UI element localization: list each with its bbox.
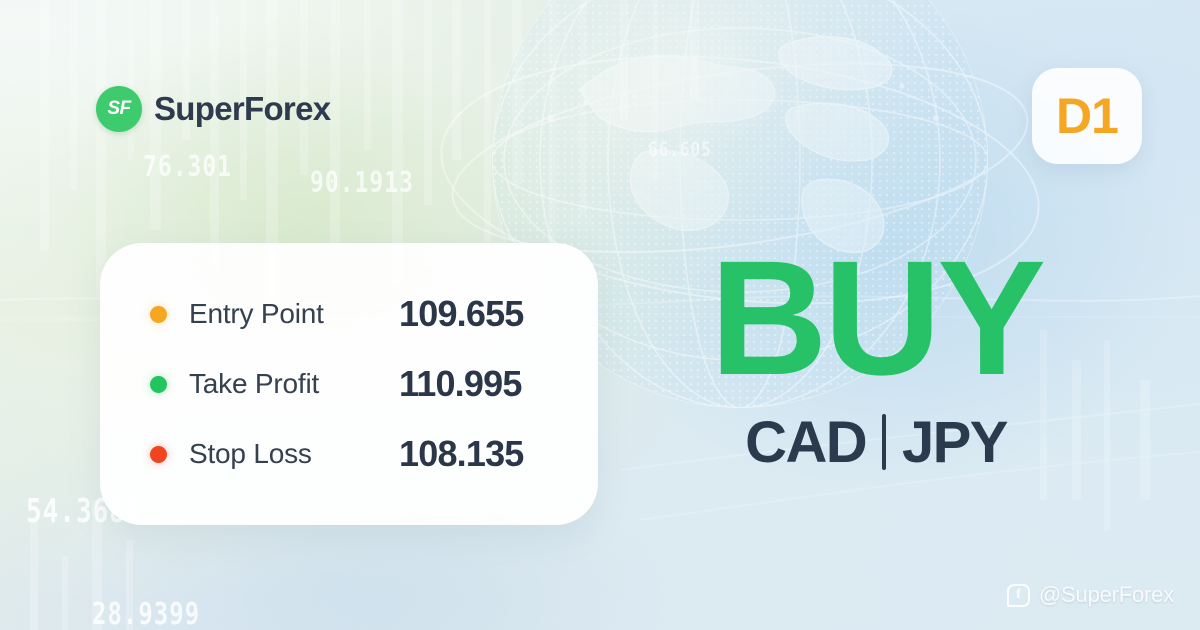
entry-point-dot-icon [150,306,167,323]
trade-levels-card: Entry Point 109.655 Take Profit 110.995 … [100,243,598,525]
base-currency: CAD [745,409,866,476]
signal-block: BUY CAD JPY [676,250,1076,476]
brand-name: SuperForex [154,90,330,128]
background-price-label: 90.1913 [310,167,414,200]
signal-action: BUY [676,250,1076,387]
facebook-icon: f [1007,584,1030,607]
signal-banner: 76.301 90.1913 66.605 54.3686 28.9399 SF… [0,0,1200,630]
take-profit-dot-icon [150,376,167,393]
background-price-label: 66.605 [648,138,712,161]
social-handle: @SuperForex [1039,582,1174,608]
timeframe-badge: D1 [1032,68,1142,164]
background-price-label: 76.301 [143,151,232,184]
logo-mark-text: SF [107,98,130,120]
brand-logo[interactable]: SF SuperForex [96,86,330,132]
take-profit-row: Take Profit 110.995 [100,349,598,419]
stop-loss-value: 108.135 [399,433,524,475]
quote-currency: JPY [902,409,1007,476]
stop-loss-row: Stop Loss 108.135 [100,419,598,489]
pair-separator-icon [882,414,886,470]
facebook-glyph: f [1016,588,1021,602]
take-profit-label: Take Profit [189,368,399,400]
background-price-label: 28.9399 [92,597,200,630]
entry-point-value: 109.655 [399,293,524,335]
stop-loss-dot-icon [150,446,167,463]
currency-pair: CAD JPY [676,409,1076,476]
entry-point-label: Entry Point [189,298,399,330]
entry-point-row: Entry Point 109.655 [100,279,598,349]
timeframe-label: D1 [1056,87,1118,145]
take-profit-value: 110.995 [399,363,522,405]
superforex-mark-icon: SF [96,86,142,132]
social-watermark[interactable]: f @SuperForex [1007,582,1174,608]
stop-loss-label: Stop Loss [189,438,399,470]
